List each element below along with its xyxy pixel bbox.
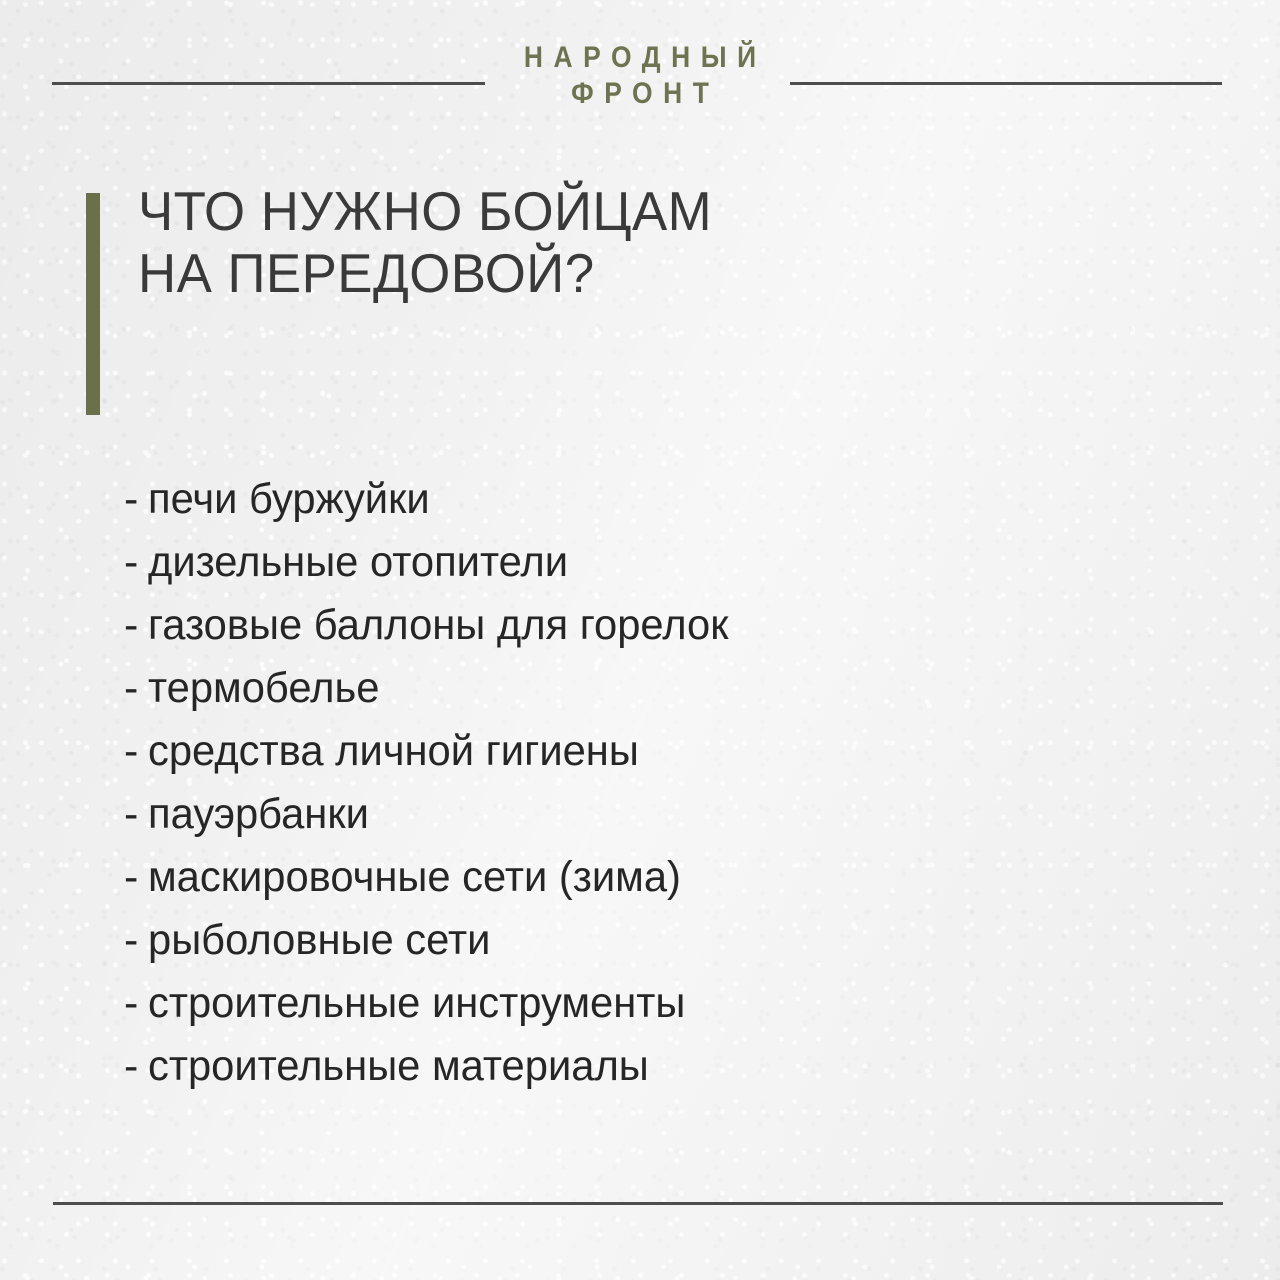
list-item-label: рыболовные сети bbox=[148, 909, 490, 972]
dash-bullet-icon: - bbox=[124, 846, 148, 909]
dash-bullet-icon: - bbox=[124, 594, 148, 657]
list-item: - печи буржуйки bbox=[124, 468, 1124, 531]
list-item: - строительные инструменты bbox=[124, 972, 1124, 1035]
list-item: - термобелье bbox=[124, 657, 1124, 720]
poster: НАРОДНЫЙ ФРОНТ ЧТО НУЖНО БОЙЦАМ НА ПЕРЕД… bbox=[0, 0, 1280, 1280]
header-rule-left bbox=[52, 82, 485, 85]
needs-list: - печи буржуйки - дизельные отопители - … bbox=[124, 468, 1124, 1098]
list-item-label: строительные материалы bbox=[148, 1035, 649, 1098]
list-item-label: дизельные отопители bbox=[148, 531, 568, 594]
dash-bullet-icon: - bbox=[124, 783, 148, 846]
list-item-label: термобелье bbox=[148, 657, 379, 720]
list-item: - дизельные отопители bbox=[124, 531, 1124, 594]
poster-header: НАРОДНЫЙ ФРОНТ bbox=[0, 40, 1280, 140]
dash-bullet-icon: - bbox=[124, 1035, 148, 1098]
brand-logo: НАРОДНЫЙ ФРОНТ bbox=[490, 40, 790, 112]
header-rule-right bbox=[790, 82, 1222, 85]
dash-bullet-icon: - bbox=[124, 657, 148, 720]
page-title: ЧТО НУЖНО БОЙЦАМ НА ПЕРЕДОВОЙ? bbox=[138, 180, 712, 304]
list-item-label: строительные инструменты bbox=[148, 972, 685, 1035]
list-item-label: газовые баллоны для горелок bbox=[148, 594, 728, 657]
list-item-label: печи буржуйки bbox=[148, 468, 430, 531]
dash-bullet-icon: - bbox=[124, 720, 148, 783]
list-item: - строительные материалы bbox=[124, 1035, 1124, 1098]
dash-bullet-icon: - bbox=[124, 531, 148, 594]
brand-logo-line-1: НАРОДНЫЙ bbox=[508, 40, 772, 76]
list-item: - средства личной гигиены bbox=[124, 720, 1124, 783]
brand-logo-line-2: ФРОНТ bbox=[508, 76, 772, 112]
list-item: - газовые баллоны для горелок bbox=[124, 594, 1124, 657]
list-item: - пауэрбанки bbox=[124, 783, 1124, 846]
list-item: - рыболовные сети bbox=[124, 909, 1124, 972]
footer-rule bbox=[53, 1202, 1223, 1205]
title-accent-bar bbox=[86, 193, 100, 415]
list-item-label: средства личной гигиены bbox=[148, 720, 639, 783]
dash-bullet-icon: - bbox=[124, 909, 148, 972]
list-item: - маскировочные сети (зима) bbox=[124, 846, 1124, 909]
dash-bullet-icon: - bbox=[124, 972, 148, 1035]
list-item-label: пауэрбанки bbox=[148, 783, 369, 846]
dash-bullet-icon: - bbox=[124, 468, 148, 531]
list-item-label: маскировочные сети (зима) bbox=[148, 846, 681, 909]
